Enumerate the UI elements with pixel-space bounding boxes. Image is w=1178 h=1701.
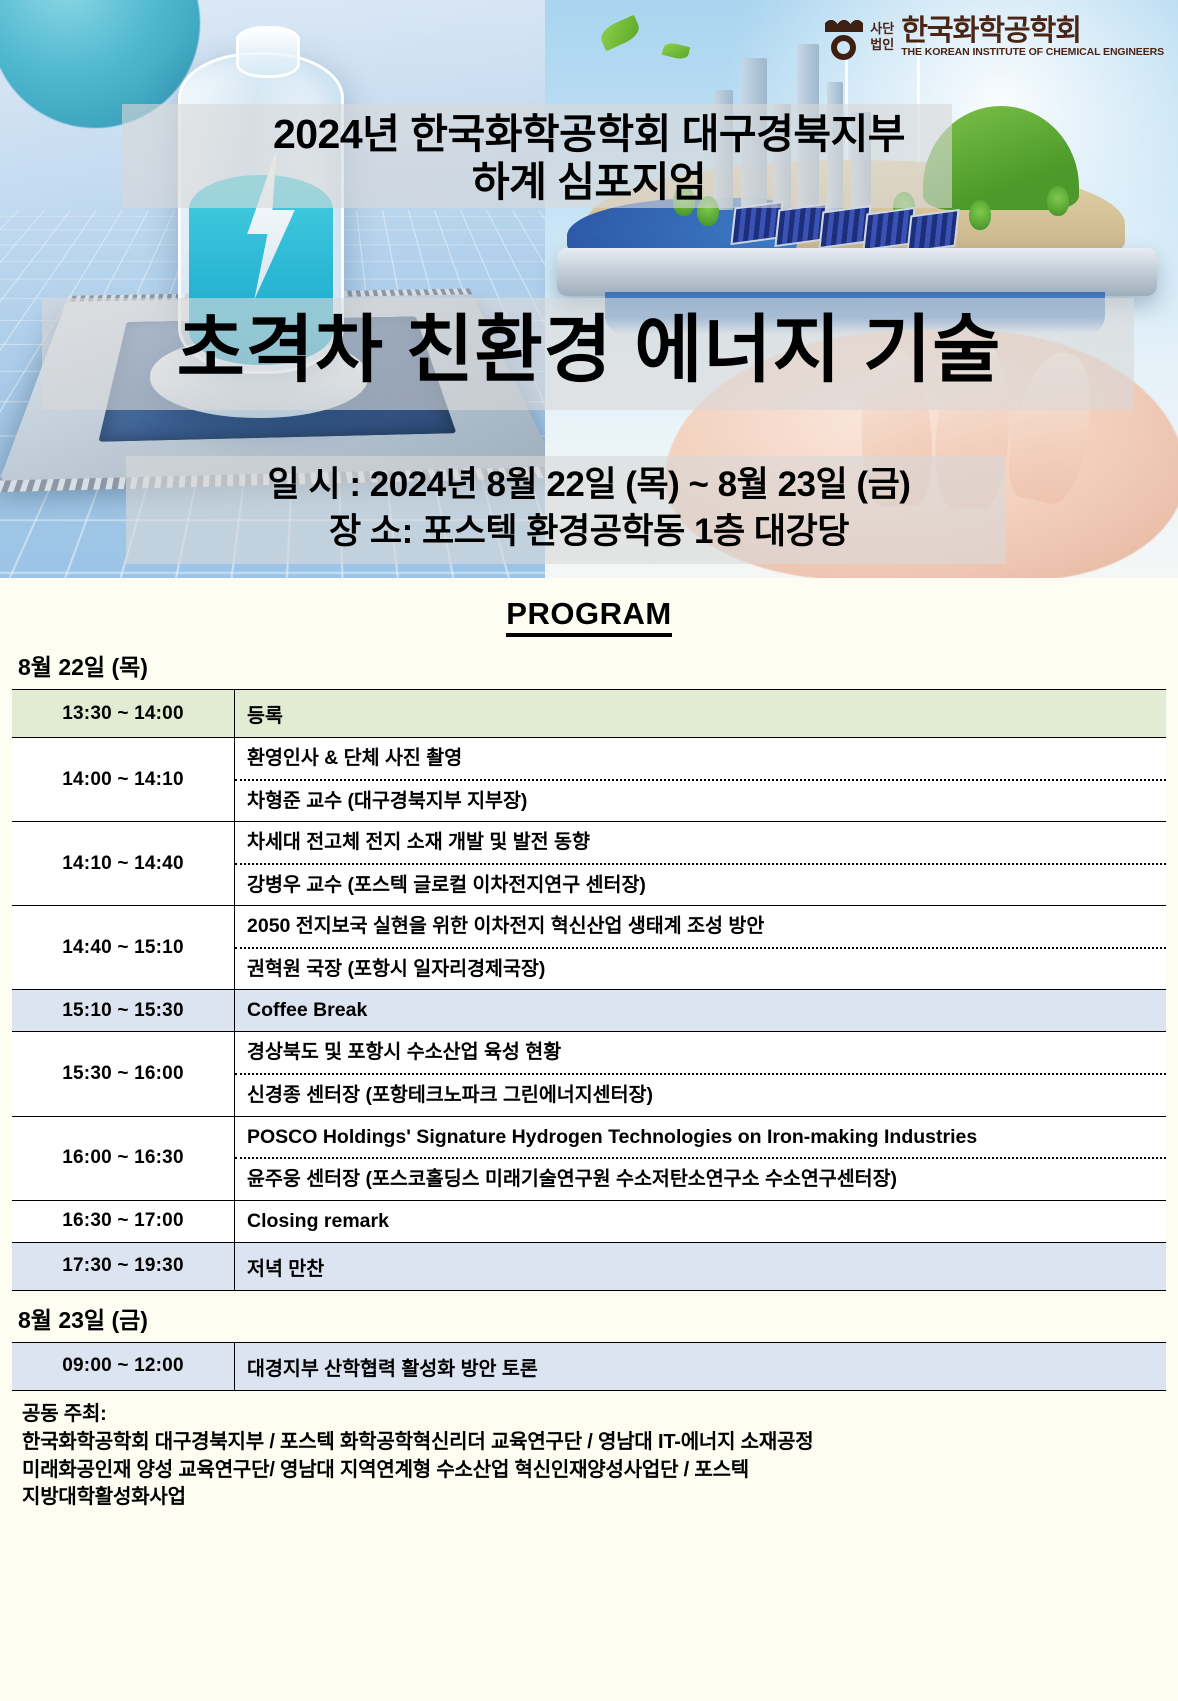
schedule-content: 대경지부 산학협력 활성화 방안 토론 [235, 1342, 1167, 1390]
hero-banner: 2024년 한국화학공학회 대구경북지부 하계 심포지엄 초격차 친환경 에너지… [0, 0, 1178, 578]
schedule-time: 15:30 ~ 16:00 [12, 1032, 235, 1116]
schedule-content: 경상북도 및 포항시 수소산업 육성 현황신경종 센터장 (포항테크노파크 그린… [235, 1032, 1167, 1116]
table-row: 13:30 ~ 14:00등록 [12, 690, 1166, 738]
cohost-footer: 공동 주최: 한국화학공학회 대구경북지부 / 포스텍 화학공학혁신리더 교육연… [12, 1391, 1166, 1512]
logo-korean-name: 한국화학공학회 [901, 16, 1164, 47]
session-topic: 환영인사 & 단체 사진 촬영 [235, 738, 1166, 781]
schedule-time: 14:00 ~ 14:10 [12, 738, 235, 822]
session-label: Closing remark [235, 1201, 1166, 1242]
session-speaker: 윤주웅 센터장 (포스코홀딩스 미래기술연구원 수소저탄소연구소 수소연구센터장… [235, 1159, 1166, 1200]
schedule-time: 14:10 ~ 14:40 [12, 822, 235, 906]
logo-corporation-label: 사단 법인 [870, 21, 894, 53]
emblem-bar [825, 27, 863, 32]
schedule-time: 17:30 ~ 19:30 [12, 1242, 235, 1290]
floating-platform [557, 248, 1157, 296]
session-label: Coffee Break [235, 990, 1166, 1031]
day-heading: 8월 22일 (목) [18, 648, 1166, 682]
schedule-table: 09:00 ~ 12:00대경지부 산학협력 활성화 방안 토론 [12, 1342, 1166, 1391]
table-row: 14:10 ~ 14:40차세대 전고체 전지 소재 개발 및 발전 동향강병우… [12, 822, 1166, 906]
table-row: 17:30 ~ 19:30저녁 만찬 [12, 1242, 1166, 1290]
session-label: 저녁 만찬 [235, 1243, 1166, 1290]
table-row: 15:30 ~ 16:00경상북도 및 포항시 수소산업 육성 현황신경종 센터… [12, 1032, 1166, 1116]
schedule-time: 15:10 ~ 15:30 [12, 990, 235, 1032]
session-topic: POSCO Holdings' Signature Hydrogen Techn… [235, 1117, 1166, 1160]
kiche-logo: 사단 법인 한국화학공학회 THE KOREAN INSTITUTE OF CH… [825, 14, 1164, 60]
table-row: 16:00 ~ 16:30POSCO Holdings' Signature H… [12, 1116, 1166, 1200]
solar-panel-icon [906, 209, 959, 253]
schedule-content: 저녁 만찬 [235, 1242, 1167, 1290]
session-speaker: 차형준 교수 (대구경북지부 지부장) [235, 781, 1166, 822]
schedule-time: 14:40 ~ 15:10 [12, 906, 235, 990]
schedule-content: 환영인사 & 단체 사진 촬영차형준 교수 (대구경북지부 지부장) [235, 738, 1167, 822]
session-speaker: 권혁원 국장 (포항시 일자리경제국장) [235, 949, 1166, 990]
emblem-ring [831, 35, 856, 60]
session-label: 등록 [235, 690, 1166, 737]
table-row: 14:00 ~ 14:10환영인사 & 단체 사진 촬영차형준 교수 (대구경북… [12, 738, 1166, 822]
leaf-icon [597, 15, 642, 51]
table-row: 09:00 ~ 12:00대경지부 산학협력 활성화 방안 토론 [12, 1342, 1166, 1390]
battery-cap [236, 26, 300, 78]
cohost-footer-body: 한국화학공학회 대구경북지부 / 포스텍 화학공학혁신리더 교육연구단 / 영남… [22, 1429, 1156, 1512]
program-heading: PROGRAM [12, 578, 1166, 638]
table-row: 14:40 ~ 15:102050 전지보국 실현을 위한 이차전지 혁신산업 … [12, 906, 1166, 990]
emblem-crown [825, 16, 863, 27]
schedule-time: 16:30 ~ 17:00 [12, 1200, 235, 1242]
schedule-content: 2050 전지보국 실현을 위한 이차전지 혁신산업 생태계 조성 방안권혁원 … [235, 906, 1167, 990]
leaf-icon [662, 41, 691, 61]
schedule-time: 13:30 ~ 14:00 [12, 690, 235, 738]
schedule-content: Coffee Break [235, 990, 1167, 1032]
logo-english-name: THE KOREAN INSTITUTE OF CHEMICAL ENGINEE… [901, 47, 1164, 58]
session-topic: 차세대 전고체 전지 소재 개발 및 발전 동향 [235, 822, 1166, 865]
session-label: 대경지부 산학협력 활성화 방안 토론 [235, 1343, 1166, 1390]
session-topic: 경상북도 및 포항시 수소산업 육성 현황 [235, 1032, 1166, 1075]
session-topic: 2050 전지보국 실현을 위한 이차전지 혁신산업 생태계 조성 방안 [235, 906, 1166, 949]
schedule-content: 등록 [235, 690, 1167, 738]
schedule-time: 09:00 ~ 12:00 [12, 1342, 235, 1390]
program-heading-text: PROGRAM [506, 596, 671, 637]
schedule-time: 16:00 ~ 16:30 [12, 1116, 235, 1200]
kiche-emblem-icon [825, 14, 863, 60]
event-main-title: 초격차 친환경 에너지 기술 [0, 306, 1178, 393]
session-speaker: 신경종 센터장 (포항테크노파크 그린에너지센터장) [235, 1075, 1166, 1116]
session-speaker: 강병우 교수 (포스텍 글로컬 이차전지연구 센터장) [235, 865, 1166, 906]
day-heading: 8월 23일 (금) [18, 1301, 1166, 1335]
program-section: PROGRAM 8월 22일 (목)13:30 ~ 14:00등록14:00 ~… [0, 578, 1178, 1701]
cohost-footer-title: 공동 주최: [22, 1401, 1156, 1429]
schedule-content: Closing remark [235, 1200, 1167, 1242]
table-row: 16:30 ~ 17:00Closing remark [12, 1200, 1166, 1242]
schedule-content: 차세대 전고체 전지 소재 개발 및 발전 동향강병우 교수 (포스텍 글로컬 … [235, 822, 1167, 906]
schedule-table: 13:30 ~ 14:00등록14:00 ~ 14:10환영인사 & 단체 사진… [12, 689, 1166, 1291]
table-row: 15:10 ~ 15:30Coffee Break [12, 990, 1166, 1032]
program-days-container: 8월 22일 (목)13:30 ~ 14:00등록14:00 ~ 14:10환영… [12, 648, 1166, 1391]
poster-root: 2024년 한국화학공학회 대구경북지부 하계 심포지엄 초격차 친환경 에너지… [0, 0, 1178, 1701]
event-subtitle: 2024년 한국화학공학회 대구경북지부 하계 심포지엄 [0, 110, 1178, 207]
logo-name-block: 한국화학공학회 THE KOREAN INSTITUTE OF CHEMICAL… [901, 16, 1164, 58]
schedule-content: POSCO Holdings' Signature Hydrogen Techn… [235, 1116, 1167, 1200]
event-date-venue: 일 시 : 2024년 8월 22일 (목) ~ 8월 23일 (금) 장 소:… [0, 462, 1178, 556]
